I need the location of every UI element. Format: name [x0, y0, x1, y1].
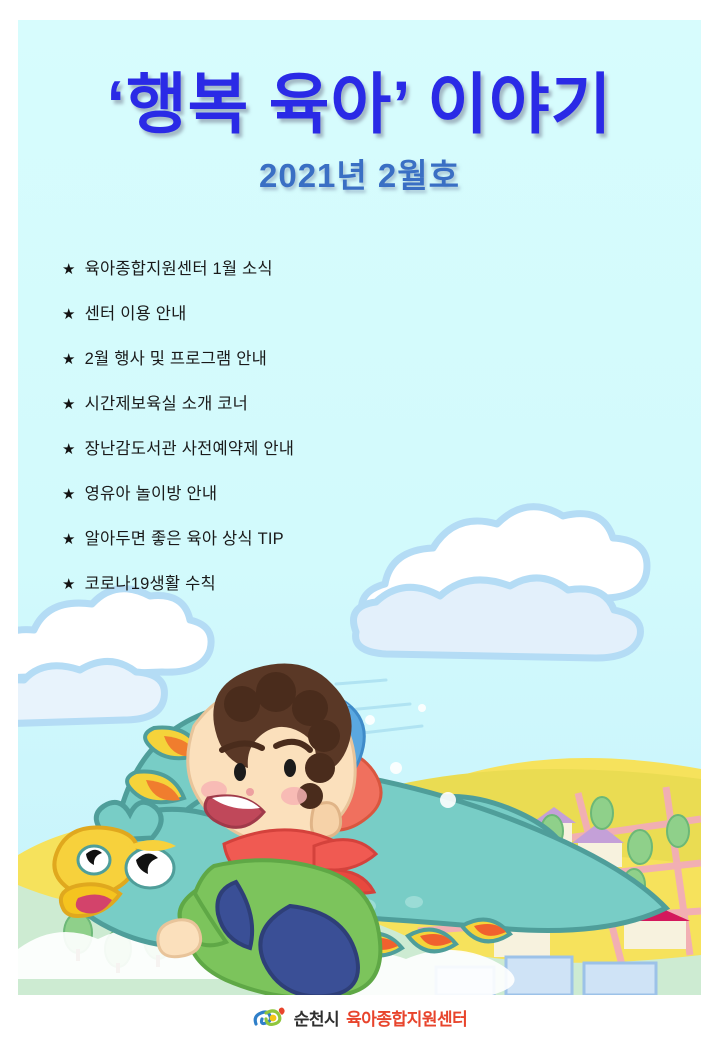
- poster-canvas: ‘행복 육아’ 이야기 2021년 2월호 ★ 육아종합지원센터 1월 소식 ★…: [18, 20, 701, 995]
- list-item[interactable]: ★ 장난감도서관 사전예약제 안내: [62, 435, 294, 480]
- logo-emblem-icon: [253, 1006, 287, 1030]
- list-item-label: 장난감도서관 사전예약제 안내: [85, 435, 295, 459]
- list-item-label: 센터 이용 안내: [85, 300, 187, 324]
- list-item-label: 알아두면 좋은 육아 상식 TIP: [85, 525, 284, 549]
- magazine-cover-page: ‘행복 육아’ 이야기 2021년 2월호 ★ 육아종합지원센터 1월 소식 ★…: [0, 0, 720, 1040]
- star-icon: ★: [62, 307, 76, 322]
- logo-city-label: 순천시: [294, 1005, 339, 1030]
- star-icon: ★: [62, 577, 76, 592]
- star-icon: ★: [62, 532, 76, 547]
- suncheon-center-logo: 순천시 육아종합지원센터: [253, 1005, 468, 1030]
- logo-center-label: 육아종합지원센터: [346, 1005, 467, 1030]
- star-icon: ★: [62, 442, 76, 457]
- contents-list: ★ 육아종합지원센터 1월 소식 ★ 센터 이용 안내 ★ 2월 행사 및 프로…: [62, 255, 294, 615]
- footer-logo-bar: 순천시 육아종합지원센터: [0, 995, 720, 1040]
- list-item[interactable]: ★ 2월 행사 및 프로그램 안내: [62, 345, 294, 390]
- issue-subtitle: 2021년 2월호: [18, 149, 701, 197]
- list-item-label: 시간제보육실 소개 코너: [85, 390, 248, 414]
- list-item[interactable]: ★ 센터 이용 안내: [62, 300, 294, 345]
- page-title: ‘행복 육아’ 이야기: [18, 70, 701, 139]
- list-item-label: 영유아 놀이방 안내: [85, 480, 218, 504]
- list-item-label: 코로나19생활 수칙: [85, 570, 216, 594]
- star-icon: ★: [62, 352, 76, 367]
- title-block: ‘행복 육아’ 이야기 2021년 2월호: [18, 70, 701, 197]
- list-item[interactable]: ★ 시간제보육실 소개 코너: [62, 390, 294, 435]
- star-icon: ★: [62, 262, 76, 277]
- star-icon: ★: [62, 487, 76, 502]
- list-item[interactable]: ★ 알아두면 좋은 육아 상식 TIP: [62, 525, 294, 570]
- list-item[interactable]: ★ 육아종합지원센터 1월 소식: [62, 255, 294, 300]
- list-item-label: 2월 행사 및 프로그램 안내: [85, 345, 267, 369]
- list-item-label: 육아종합지원센터 1월 소식: [85, 255, 273, 279]
- list-item[interactable]: ★ 코로나19생활 수칙: [62, 570, 294, 615]
- star-icon: ★: [62, 397, 76, 412]
- list-item[interactable]: ★ 영유아 놀이방 안내: [62, 480, 294, 525]
